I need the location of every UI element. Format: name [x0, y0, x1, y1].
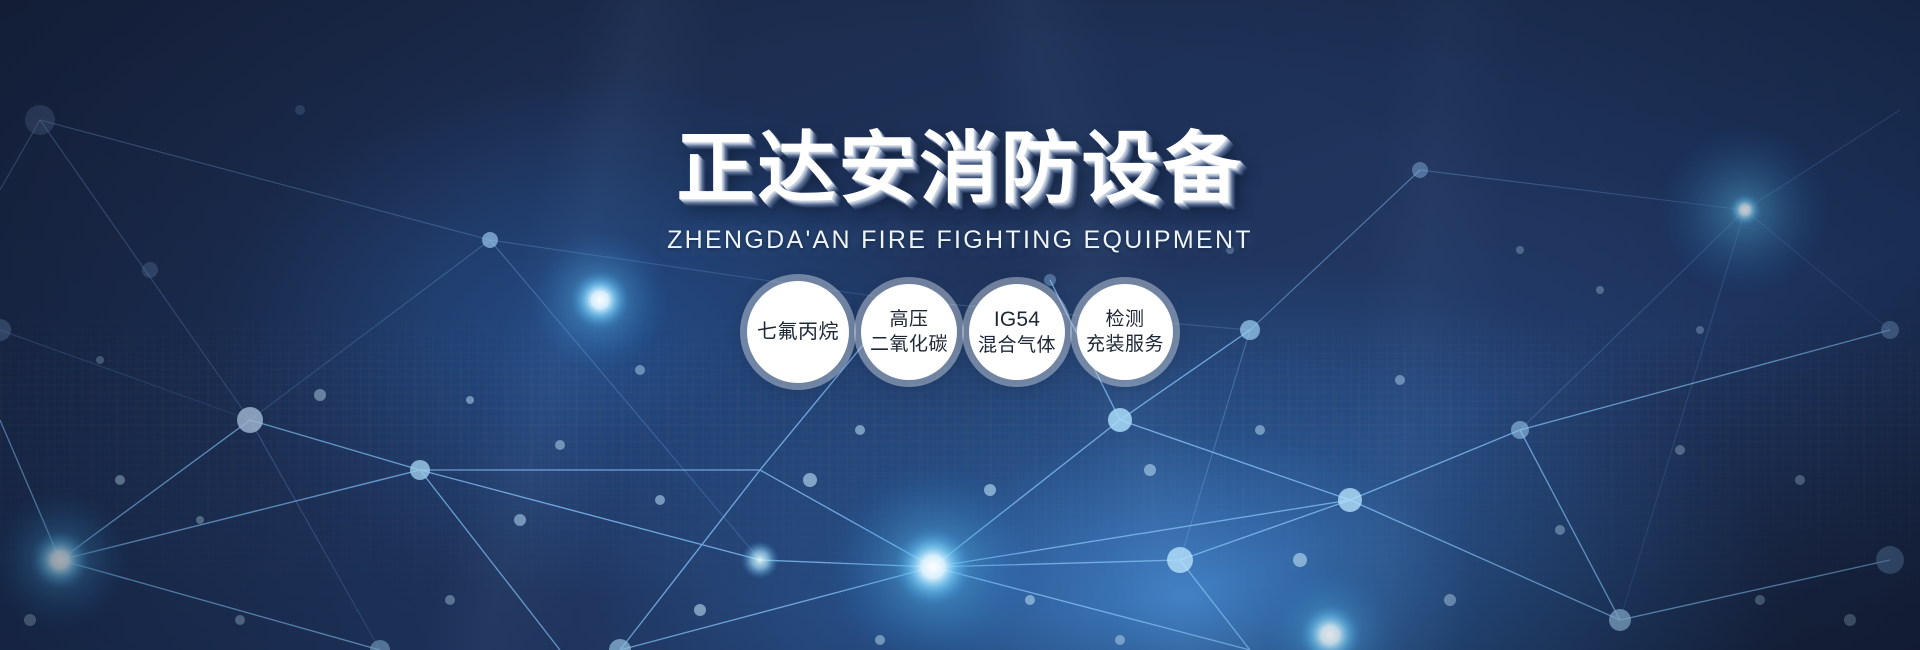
badge-label-line1: 七氟丙烷: [757, 319, 839, 345]
badge-high-pressure-co2[interactable]: 高压 二氧化碳: [861, 284, 957, 380]
page-title: 正达安消防设备: [676, 128, 1243, 209]
badge-testing-filling-service[interactable]: 检测 充装服务: [1077, 284, 1173, 380]
badge-ig54-mixed-gas[interactable]: IG54 混合气体: [969, 284, 1065, 380]
hero-banner: 正达安消防设备 ZHENGDA'AN FIRE FIGHTING EQUIPME…: [0, 0, 1920, 650]
badge-list: 七氟丙烷 高压 二氧化碳 IG54 混合气体 检测 充装服务: [747, 281, 1173, 383]
badge-label-line2: 二氧化碳: [870, 332, 948, 357]
badge-label-line2: 充装服务: [1086, 332, 1164, 357]
badge-heptafluoropropane[interactable]: 七氟丙烷: [747, 281, 849, 383]
banner-content: 正达安消防设备 ZHENGDA'AN FIRE FIGHTING EQUIPME…: [0, 0, 1920, 650]
badge-label-line1: 高压: [889, 307, 928, 332]
page-subtitle: ZHENGDA'AN FIRE FIGHTING EQUIPMENT: [667, 226, 1253, 255]
badge-label-line1: 检测: [1105, 307, 1144, 332]
badge-label-line2: 混合气体: [978, 333, 1056, 358]
badge-label-line1: IG54: [994, 306, 1040, 334]
